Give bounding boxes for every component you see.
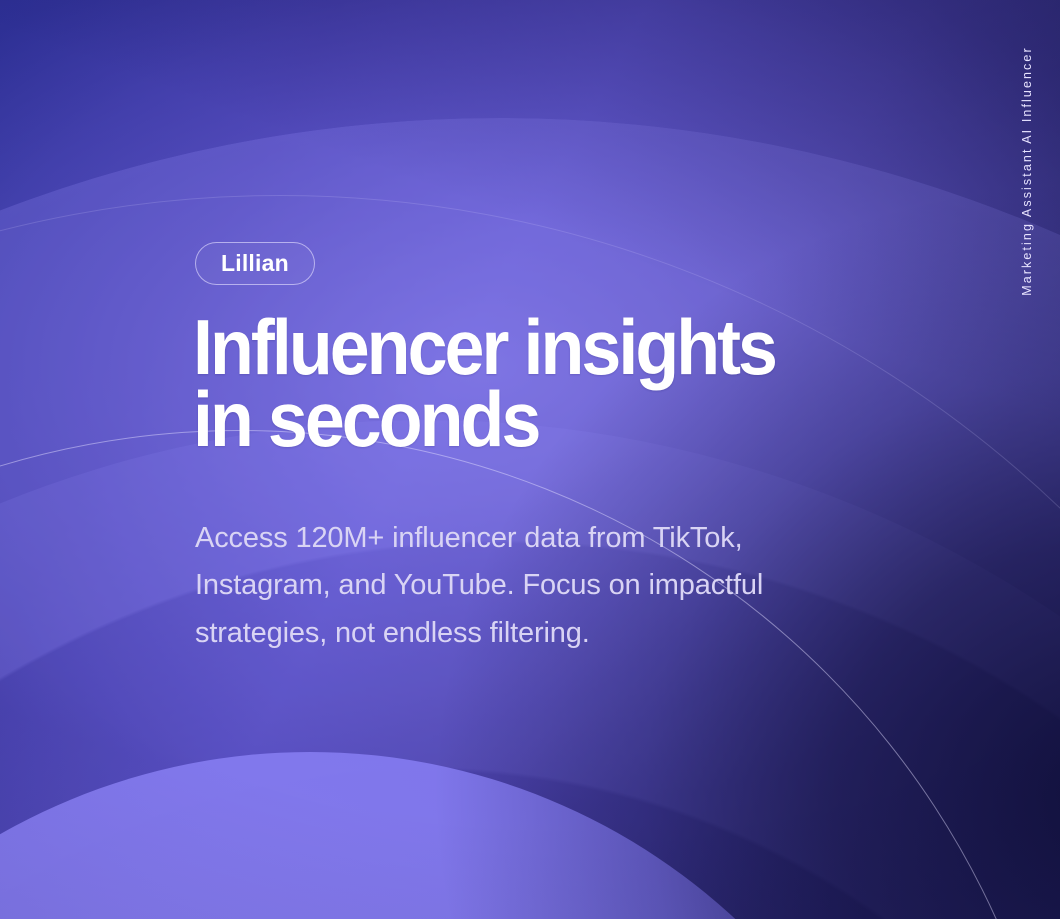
product-name-badge-label: Lillian	[221, 250, 289, 277]
hero-subheading: Access 120M+ influencer data from TikTok…	[195, 515, 885, 657]
vertical-brand-label: AI Influencer Marketing Assistant	[1020, 46, 1034, 296]
vertical-brand-label-line-2: Marketing Assistant	[1020, 147, 1034, 295]
page-title: Influencer insights in seconds	[193, 312, 775, 456]
hero-poster: AI Influencer Marketing Assistant Lillia…	[0, 0, 1060, 919]
product-name-badge[interactable]: Lillian	[195, 242, 315, 285]
hero-content: Lillian Influencer insights in seconds A…	[195, 0, 895, 919]
vertical-brand-label-line-1: AI Influencer	[1020, 46, 1034, 143]
